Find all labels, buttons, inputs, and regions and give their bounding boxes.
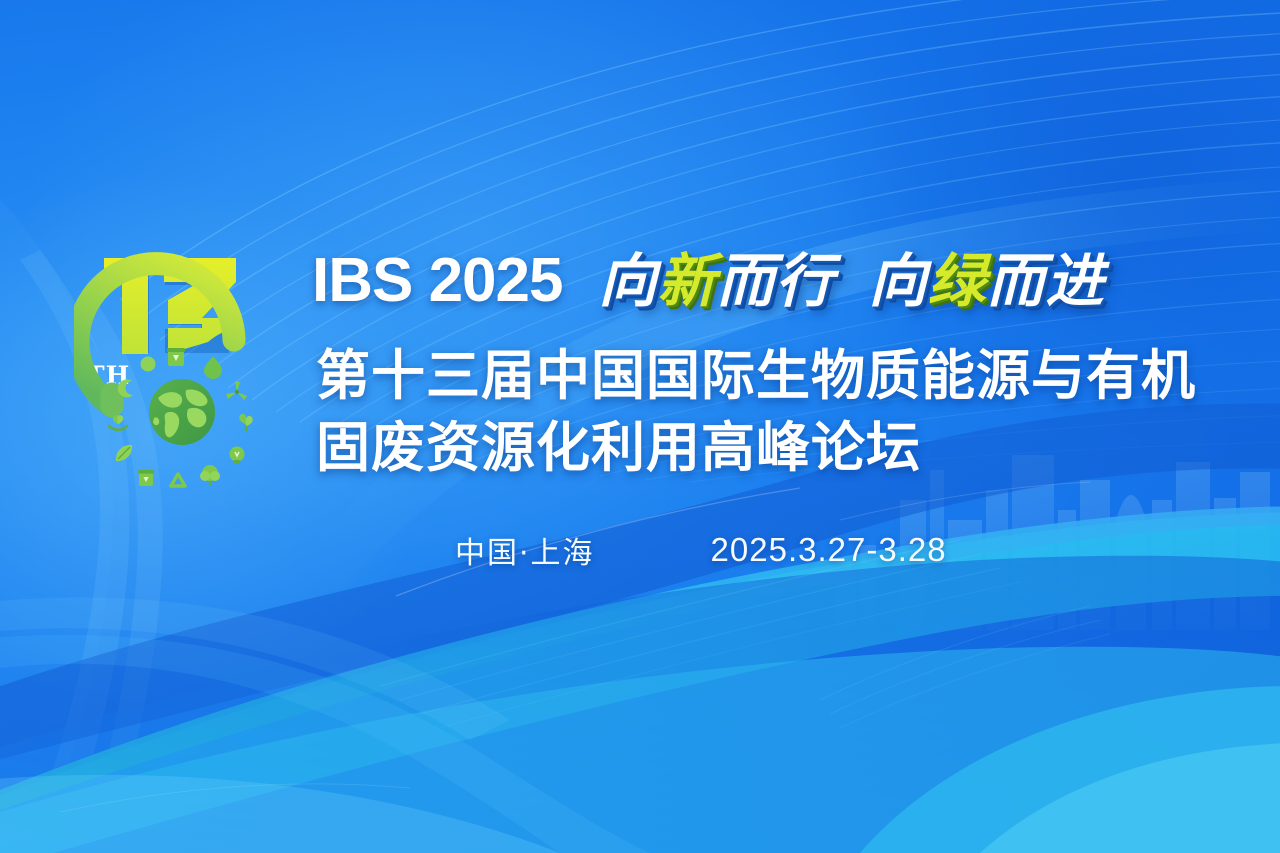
slogan2-part1: 向 bbox=[869, 249, 928, 314]
slogan2-accent: 绿 bbox=[928, 249, 987, 314]
slogan1-accent: 新 bbox=[658, 249, 717, 314]
headline-row: IBS 2025 向新而行向绿而进 bbox=[312, 250, 1105, 312]
slogan-text: 向新而行向绿而进 bbox=[599, 253, 1105, 311]
brand-title: IBS 2025 bbox=[312, 250, 563, 312]
event-meta-row: 中国·上海 2025.3.27-3.28 bbox=[455, 528, 947, 572]
subtitle-line-1: 第十三届中国国际生物质能源与有机 bbox=[316, 340, 1196, 412]
event-date: 2025.3.27-3.28 bbox=[711, 531, 947, 569]
subtitle-line-2: 固废资源化利用高峰论坛 bbox=[316, 412, 1196, 484]
conference-subtitle: 第十三届中国国际生物质能源与有机 固废资源化利用高峰论坛 bbox=[316, 340, 1196, 484]
anniversary-logo: TH bbox=[74, 236, 304, 498]
banner-content: TH bbox=[0, 0, 1280, 853]
logo-graphic: TH bbox=[74, 236, 304, 498]
green-earth-globe-icon bbox=[149, 379, 215, 445]
slogan1-part1: 向 bbox=[599, 249, 658, 314]
conference-banner: TH bbox=[0, 0, 1280, 853]
slogan1-part3: 而行 bbox=[717, 249, 835, 314]
event-location: 中国·上海 bbox=[455, 528, 595, 572]
slogan2-part3: 而进 bbox=[987, 249, 1105, 314]
